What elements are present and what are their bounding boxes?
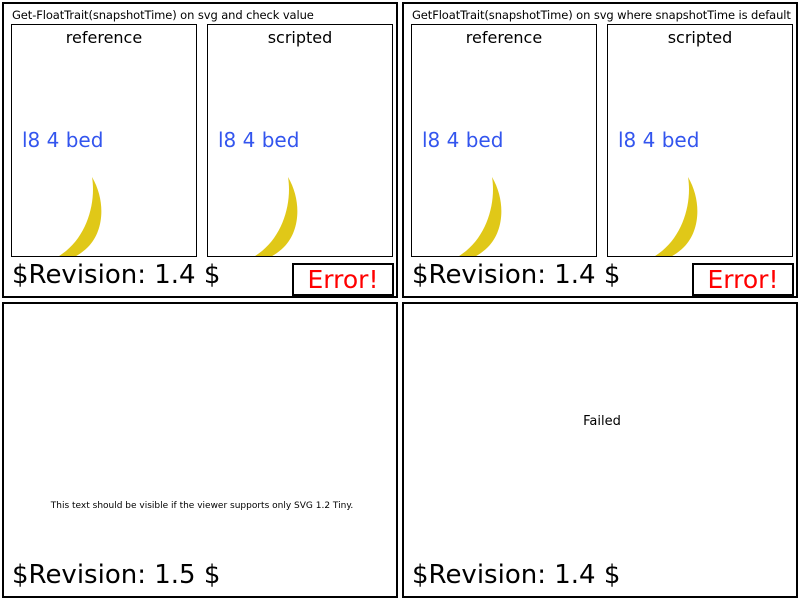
reference-blue-text: l8 4 bed: [422, 129, 503, 151]
reference-panel: l8 4 bed: [11, 24, 197, 257]
scripted-panel-label: scripted: [207, 29, 393, 47]
revision-text: $Revision: 1.5 $: [12, 560, 220, 590]
reference-panel-label: reference: [11, 29, 197, 47]
test-suite-page: Get-FloatTrait(snapshotTime) on svg and …: [0, 0, 800, 600]
quadrant-frame: GetFloatTrait(snapshotTime) on svg where…: [402, 2, 798, 298]
scripted-blue-text: l8 4 bed: [218, 129, 299, 151]
quadrant-frame: Get-FloatTrait(snapshotTime) on svg and …: [2, 2, 398, 298]
crescent-moon-icon: [30, 175, 130, 257]
crescent-moon-icon: [226, 175, 326, 257]
test-quadrant-bottom-left: This text should be visible if the viewe…: [0, 300, 400, 600]
error-badge: Error!: [292, 263, 394, 296]
scripted-panel: l8 4 bed: [607, 24, 793, 257]
fallback-note: This text should be visible if the viewe…: [4, 501, 400, 512]
reference-panel-label: reference: [411, 29, 597, 47]
crescent-moon-icon: [430, 175, 530, 257]
failed-status-text: Failed: [404, 414, 800, 429]
reference-panel: l8 4 bed: [411, 24, 597, 257]
revision-text: $Revision: 1.4 $: [12, 260, 220, 290]
error-label: Error!: [308, 266, 379, 293]
crescent-moon-icon: [626, 175, 726, 257]
scripted-panel-label: scripted: [607, 29, 793, 47]
test-quadrant-top-left: Get-FloatTrait(snapshotTime) on svg and …: [0, 0, 400, 300]
scripted-panel: l8 4 bed: [207, 24, 393, 257]
test-quadrant-bottom-right: Failed $Revision: 1.4 $: [400, 300, 800, 600]
quadrant-frame: This text should be visible if the viewe…: [2, 302, 398, 598]
revision-text: $Revision: 1.4 $: [412, 560, 620, 590]
error-badge: Error!: [692, 263, 794, 296]
test-title: Get-FloatTrait(snapshotTime) on svg and …: [12, 9, 400, 22]
quadrant-frame: Failed $Revision: 1.4 $: [402, 302, 798, 598]
test-title: GetFloatTrait(snapshotTime) on svg where…: [412, 9, 800, 22]
reference-blue-text: l8 4 bed: [22, 129, 103, 151]
scripted-blue-text: l8 4 bed: [618, 129, 699, 151]
error-label: Error!: [708, 266, 779, 293]
test-quadrant-top-right: GetFloatTrait(snapshotTime) on svg where…: [400, 0, 800, 300]
revision-text: $Revision: 1.4 $: [412, 260, 620, 290]
